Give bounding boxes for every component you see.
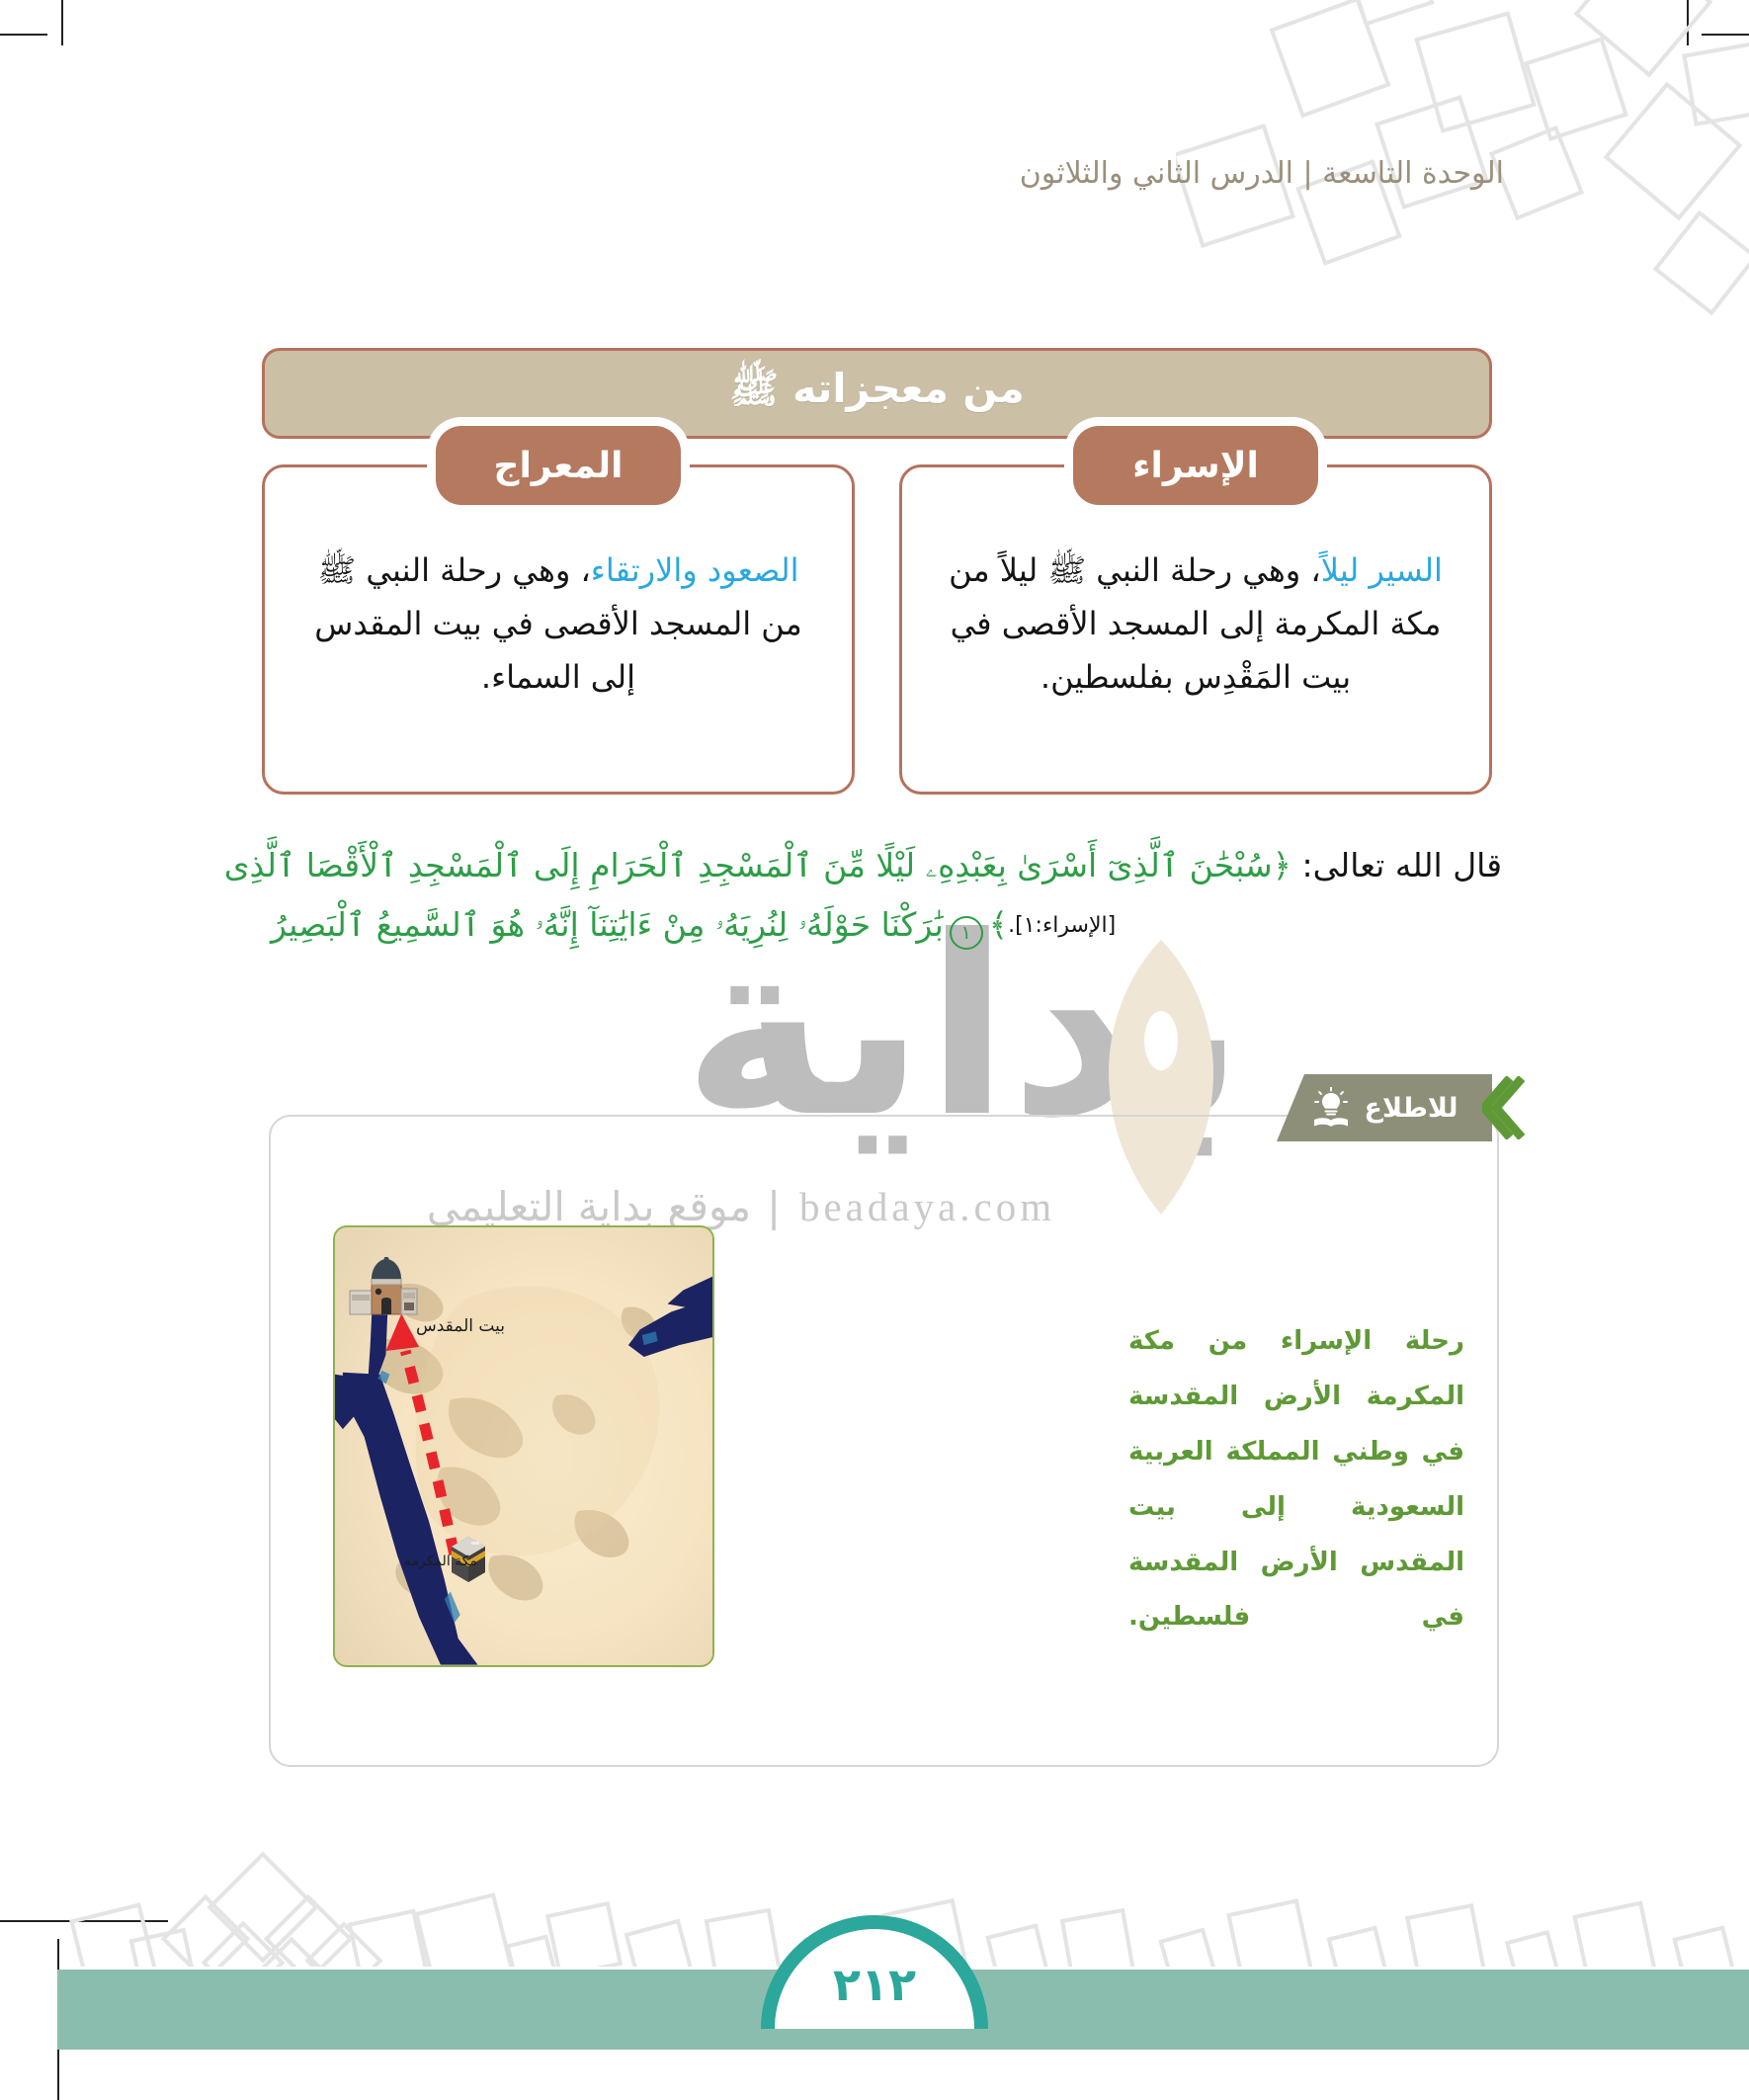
branch-pill-miraj: المعراج xyxy=(436,426,681,505)
verse-second-line: [الإسراء:١].﴾١بَٰرَكْنَا حَوْلَهُۥ لِنُر… xyxy=(255,901,1502,950)
branch-term-miraj: الصعود والارتقاء xyxy=(591,551,799,589)
miracles-banner-label: من معجزاته ﷺ xyxy=(729,364,1024,423)
page-number-badge: ٢١٢ xyxy=(761,1915,988,2029)
branch-card-isra: الإسراء السير ليلاً، وهي رحلة النبي ﷺ لي… xyxy=(899,464,1492,795)
crop-mark-top-right-vertical xyxy=(1687,0,1689,45)
map-label-makkah: مكة المكرمة xyxy=(404,1554,477,1569)
page-number: ٢١٢ xyxy=(833,1958,916,2011)
crop-mark-top-left-vertical xyxy=(61,0,63,45)
miracles-concept-diagram: من معجزاته ﷺ الإسراء السير ليلاً، وهي رح… xyxy=(262,348,1492,795)
miracles-banner: من معجزاته ﷺ xyxy=(262,348,1492,439)
running-head: الوحدة التاسعة | الدرس الثاني والثلاثون xyxy=(1020,156,1504,191)
readmore-label: للاطلاع xyxy=(1365,1093,1458,1124)
ayah-number-marker: ١ xyxy=(950,916,983,950)
branch-body-miraj: الصعود والارتقاء، وهي رحلة النبي ﷺ من ال… xyxy=(298,545,818,704)
verse-line-2-text: بَٰرَكْنَا حَوْلَهُۥ لِنُرِيَهُۥ مِنْ ءَ… xyxy=(271,905,944,944)
map-label-jerusalem: بيت المقدس xyxy=(416,1316,505,1336)
verse-intro-text: قال الله تعالى: xyxy=(1302,846,1502,884)
page-number-inner: ٢١٢ xyxy=(775,1929,974,2029)
crop-mark-bottom-left-horizontal xyxy=(0,1920,168,1922)
lightbulb-book-icon xyxy=(1311,1087,1351,1129)
readmore-paragraph: رحلة الإسراء من مكة المكرمة الأرض المقدس… xyxy=(1128,1314,1464,1645)
branch-pill-label-isra: الإسراء xyxy=(1132,446,1259,486)
branch-card-miraj: المعراج الصعود والارتقاء، وهي رحلة النبي… xyxy=(262,464,855,795)
branch-term-isra: السير ليلاً xyxy=(1321,551,1443,589)
verse-first-line: قال الله تعالى: ﴿سُبْحَٰنَ ٱلَّذِىٓ أَسْ… xyxy=(255,842,1502,889)
dome-of-the-rock-icon xyxy=(348,1257,419,1318)
readmore-tab[interactable]: للاطلاع xyxy=(1277,1074,1526,1141)
branch-pill-isra: الإسراء xyxy=(1073,426,1318,505)
crop-mark-top-left-horizontal xyxy=(0,34,47,36)
chevron-left-icon xyxy=(1482,1076,1528,1139)
quran-verse-block: قال الله تعالى: ﴿سُبْحَٰنَ ٱلَّذِىٓ أَسْ… xyxy=(255,842,1502,950)
verse-closing-bracket: ﴾ xyxy=(989,905,1008,944)
isra-route-map[interactable]: بيت المقدس مكة المكرمة xyxy=(333,1225,714,1667)
branch-pill-label-miraj: المعراج xyxy=(494,446,624,486)
verse-line-1: ﴿سُبْحَٰنَ ٱلَّذِىٓ أَسْرَىٰ بِعَبْدِهِۦ… xyxy=(224,846,1291,884)
crop-mark-top-right-horizontal xyxy=(1702,34,1749,36)
branch-body-isra: السير ليلاً، وهي رحلة النبي ﷺ ليلاً من م… xyxy=(936,545,1456,704)
verse-reference: [الإسراء:١]. xyxy=(1008,913,1116,938)
readmore-ribbon[interactable]: للاطلاع xyxy=(1277,1074,1492,1141)
